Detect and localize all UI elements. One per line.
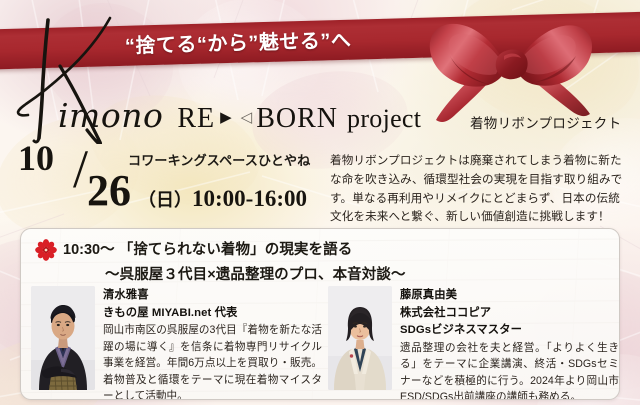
- speaker-bio: 遗品整理の会社を夫と経営。「よりよく生きる」をテーマに企業講演、終活・SDGsセ…: [400, 340, 619, 401]
- event-date: 10 / 26: [16, 140, 146, 218]
- date-slash: /: [73, 142, 88, 196]
- event-time-range: 10:00-16:00: [192, 186, 307, 211]
- project-wordmark: imono RE ▶ ◁ BORN project: [58, 96, 421, 142]
- event-venue: コワーキングスペースひとやね: [128, 150, 310, 169]
- speaker-bio: 岡山市南区の呉服屋の3代目『着物を新たな活躍の場に導く』を信条に着物専門リサイク…: [103, 322, 322, 400]
- speaker-photo-shimizu: [31, 286, 95, 390]
- avatar: [328, 286, 392, 390]
- wordmark-re: RE: [177, 103, 215, 135]
- speaker-photo-fujiwara: [328, 286, 392, 390]
- speakers-list: 清水雅喜 きもの屋 MIYABI.net 代表 岡山市南区の呉服屋の3代目『着物…: [31, 286, 611, 400]
- wordmark-project: project: [347, 104, 421, 134]
- session-title: 「捨てられない着物」の現実を語る: [119, 242, 353, 258]
- event-day: 26: [87, 169, 131, 213]
- speaker-card: 清水雅喜 きもの屋 MIYABI.net 代表 岡山市南区の呉服屋の3代目『着物…: [31, 286, 322, 400]
- speaker-name: 清水雅喜: [103, 286, 322, 302]
- event-time: （日）10:00-16:00: [138, 186, 307, 212]
- speaker-role: きもの屋 MIYABI.net 代表: [103, 304, 322, 320]
- wordmark-kimono: imono: [58, 96, 163, 135]
- speaker-role-secondary: SDGsビジネスマスター: [400, 321, 619, 337]
- project-description: 着物リボンプロジェクトは廃棄されてしまう着物に新たな命を吹き込み、循環型社会の実…: [330, 152, 630, 227]
- speaker-card: 藤原真由美 株式会社ココピア SDGsビジネスマスター 遗品整理の会社を夫と経営…: [328, 286, 619, 400]
- session-heading: 10:30～ 「捨てられない着物」の現実を語る ～呉服屋３代目×遗品整理のプロ、…: [35, 238, 609, 284]
- wordmark-japanese-subtitle: 着物リボンプロジェクト: [470, 112, 621, 132]
- speaker-name: 藤原真由美: [400, 286, 619, 302]
- wordmark-born: BORN: [256, 103, 338, 135]
- speaker-role: 株式会社ココピア: [400, 304, 619, 320]
- avatar: [31, 286, 95, 390]
- session-time: 10:30～: [63, 242, 115, 258]
- event-month: 10: [18, 140, 54, 176]
- arrow-right-solid-icon: ▶: [220, 108, 231, 126]
- session-subtitle: ～呉服屋３代目×遗品整理のプロ、本音対談～: [63, 263, 406, 284]
- session-card: 10:30～ 「捨てられない着物」の現実を語る ～呉服屋３代目×遗品整理のプロ、…: [20, 228, 620, 400]
- arrow-left-hollow-icon: ◁: [241, 108, 252, 126]
- flower-icon: [35, 239, 57, 261]
- poster-canvas: “捨てる“から”魅せる”へ: [0, 0, 640, 405]
- event-day-of-week: （日）: [138, 190, 192, 210]
